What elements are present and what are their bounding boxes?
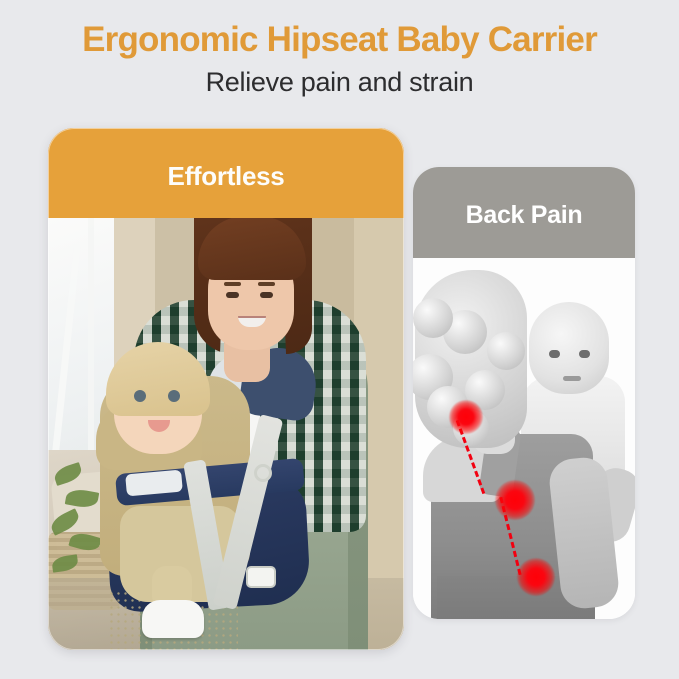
- mother-eye-right: [260, 292, 273, 298]
- card-back-pain: Back Pain: [413, 167, 635, 619]
- product-infographic: Ergonomic Hipseat Baby Carrier Relieve p…: [0, 0, 679, 679]
- mother-hair-top: [198, 218, 306, 280]
- pain-baby-eye-left: [549, 350, 560, 358]
- baby-eye-right: [168, 390, 180, 402]
- card-effortless-label: Effortless: [168, 154, 285, 192]
- baby-eye-left: [134, 390, 146, 402]
- card-effortless-band: Effortless: [48, 128, 404, 218]
- pain-hair-curl: [413, 298, 453, 338]
- carrier-buckle: [246, 566, 276, 588]
- pain-point-middle: [495, 480, 535, 520]
- card-back-pain-label: Back Pain: [466, 196, 583, 230]
- card-effortless: Effortless: [48, 128, 404, 650]
- header: Ergonomic Hipseat Baby Carrier Relieve p…: [0, 18, 679, 99]
- carrier-ring: [254, 464, 272, 482]
- pain-baby-eye-right: [579, 350, 590, 358]
- mother-eyebrow-right: [258, 282, 275, 286]
- page-title: Ergonomic Hipseat Baby Carrier: [0, 18, 679, 62]
- pain-point-upper: [449, 400, 483, 434]
- card-back-pain-photo: [413, 258, 635, 619]
- mother-eyebrow-left: [224, 282, 241, 286]
- baby-shoe: [142, 600, 204, 638]
- mother-eye-left: [226, 292, 239, 298]
- pain-hair-curl: [487, 332, 525, 370]
- pain-baby-mouth: [563, 376, 581, 381]
- page-subtitle: Relieve pain and strain: [0, 65, 679, 99]
- card-effortless-photo: [48, 218, 404, 650]
- pain-point-lower: [517, 558, 555, 596]
- card-back-pain-band: Back Pain: [413, 167, 635, 258]
